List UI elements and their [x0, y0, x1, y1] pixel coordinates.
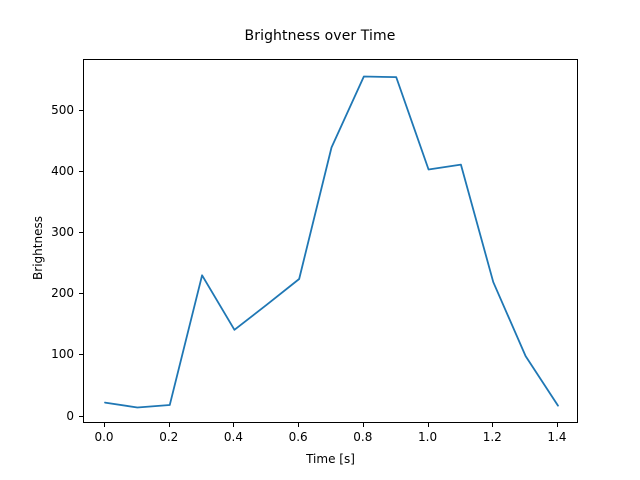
brightness-line-series [105, 77, 558, 408]
y-tick-label: 100 [30, 347, 74, 361]
x-tick-label: 0.6 [268, 430, 328, 444]
x-tick-label: 0.8 [333, 430, 393, 444]
y-tick-label: 400 [30, 164, 74, 178]
plot-axes [83, 59, 578, 423]
x-axis-label: Time [s] [83, 452, 578, 466]
x-tick-label: 1.0 [398, 430, 458, 444]
y-tick-label: 500 [30, 103, 74, 117]
x-tick-label: 0.4 [203, 430, 263, 444]
line-chart-svg [84, 60, 579, 424]
x-tick-label: 1.2 [462, 430, 522, 444]
page-title: Brightness over Time [0, 28, 640, 44]
y-axis-label: Brightness [31, 188, 45, 308]
x-tick-label: 1.4 [527, 430, 587, 444]
x-tick-label: 0.2 [139, 430, 199, 444]
x-tick-label: 0.0 [74, 430, 134, 444]
y-tick-label: 0 [30, 409, 74, 423]
matplotlib-figure: Brightness over Time 0100200300400500 0.… [0, 0, 640, 480]
